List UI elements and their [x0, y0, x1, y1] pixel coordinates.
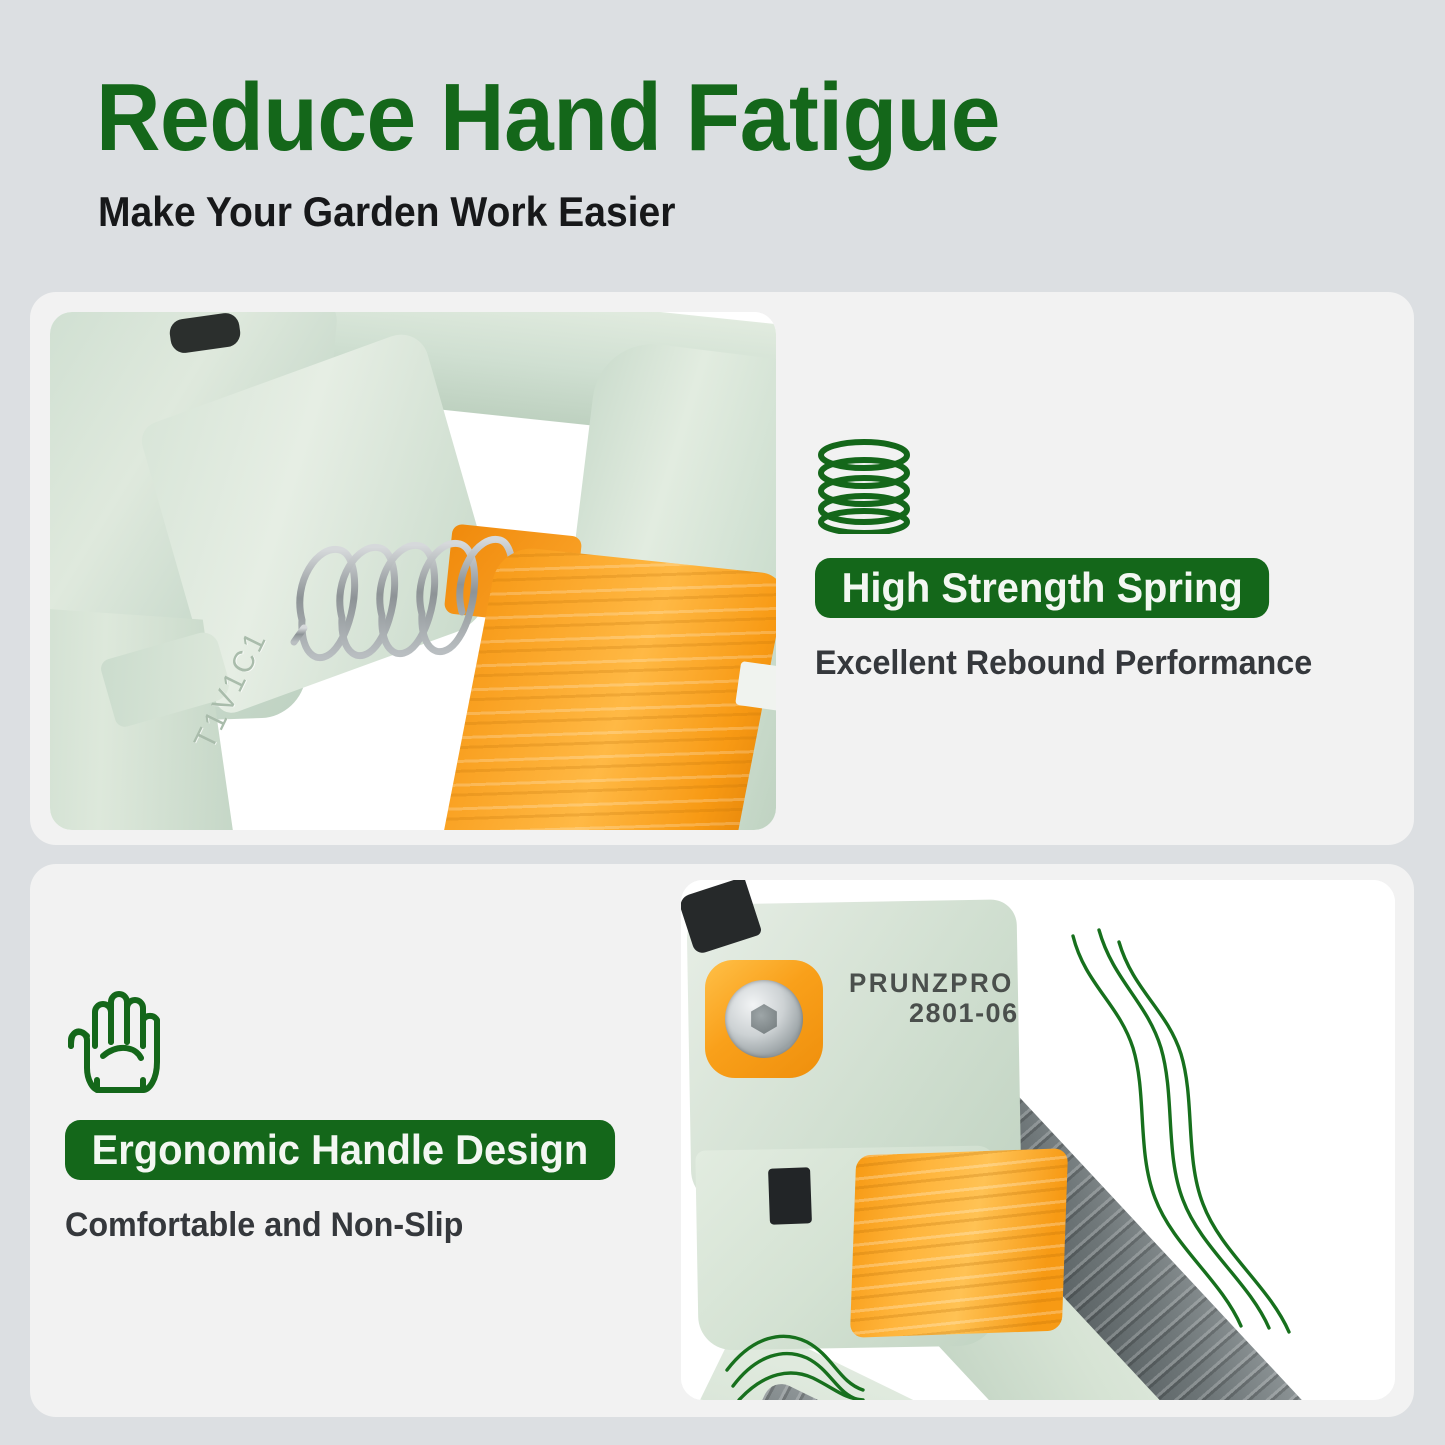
lever-slot [735, 661, 776, 711]
shears-body-photo: PRUNZPRO 2801-06 [681, 880, 1395, 1400]
orange-thumb-lock [850, 1148, 1068, 1338]
page-title: Reduce Hand Fatigue [96, 66, 1000, 170]
hand-icon [65, 984, 169, 1096]
feature-text-spring: High Strength Spring Excellent Rebound P… [815, 438, 1375, 683]
header: Reduce Hand Fatigue Make Your Garden Wor… [0, 0, 1445, 280]
spring-closeup-photo: T1V1C1 [50, 312, 776, 830]
feature-badge-handle: Ergonomic Handle Design [65, 1120, 615, 1180]
spring-icon [815, 438, 913, 534]
feature-text-handle: Ergonomic Handle Design Comfortable and … [65, 984, 665, 1245]
page-subtitle: Make Your Garden Work Easier [98, 186, 675, 238]
black-latch-tab [768, 1167, 812, 1224]
orange-thumb-lever [442, 545, 776, 830]
brand-logo-text: PRUNZPRO [849, 968, 1014, 999]
feature-caption-handle: Comfortable and Non-Slip [65, 1206, 635, 1245]
feature-badge-spring: High Strength Spring [815, 558, 1269, 618]
model-number-text: 2801-06 [909, 998, 1019, 1029]
feature-caption-spring: Excellent Rebound Performance [815, 644, 1347, 683]
thumb-lock-ribs [850, 1148, 1068, 1338]
lever-ribs [442, 545, 776, 830]
